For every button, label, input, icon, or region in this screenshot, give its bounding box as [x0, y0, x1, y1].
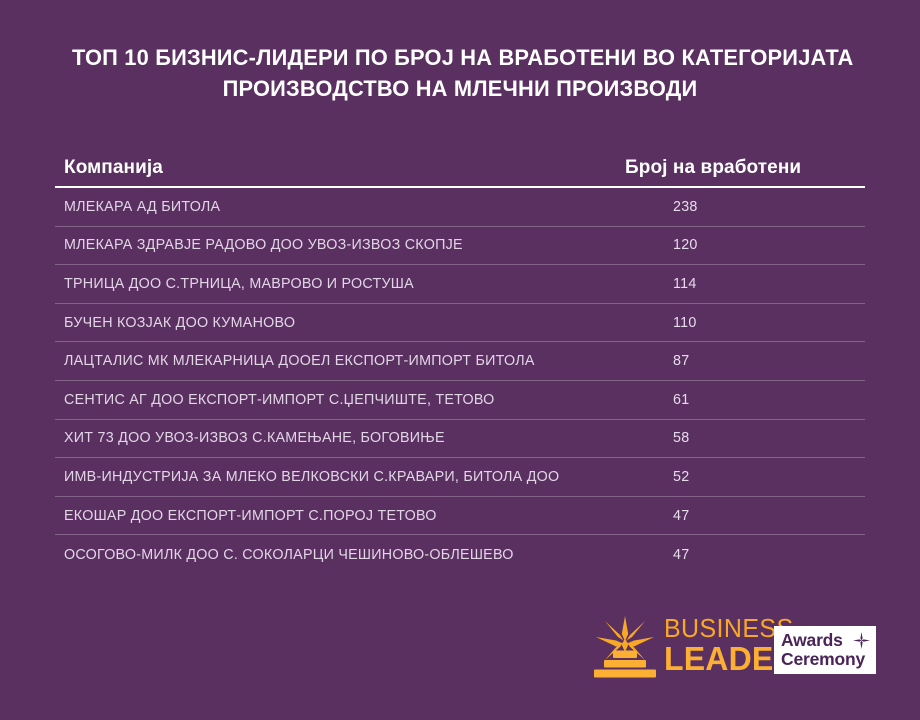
- logo-wordmark: BUSINESS LEADER: [664, 616, 768, 675]
- table-row: ТРНИЦА ДОО С.ТРНИЦА, МАВРОВО И РОСТУША 1…: [55, 265, 865, 304]
- table-row: МЛЕКАРА АД БИТОЛА 238: [55, 188, 865, 227]
- table-row: ХИТ 73 ДОО УВОЗ-ИЗВОЗ С.КАМЕЊАНЕ, БОГОВИ…: [55, 420, 865, 459]
- table-row: СЕНТИС АГ ДОО ЕКСПОРТ-ИМПОРТ С.ЏЕПЧИШТЕ,…: [55, 381, 865, 420]
- page-title-line-1: ТОП 10 БИЗНИС-ЛИДЕРИ ПО БРОЈ НА ВРАБОТЕН…: [72, 42, 848, 73]
- awards-ceremony-badge: Awards Ceremony: [774, 626, 876, 674]
- logo-word-leader: LEADER: [664, 642, 765, 675]
- cell-employee-count: 110: [673, 315, 697, 331]
- table-row: ОСОГОВО-МИЛК ДОО С. СОКОЛАРЦИ ЧЕШИНОВО-О…: [55, 535, 865, 574]
- awards-ceremony-line-1: Awards: [781, 631, 843, 650]
- cell-company: МЛЕКАРА АД БИТОЛА: [64, 199, 220, 215]
- business-leader-logo: BUSINESS LEADER Awards Ceremony: [588, 612, 876, 678]
- table-body: МЛЕКАРА АД БИТОЛА 238 МЛЕКАРА ЗДРАВЈЕ РА…: [55, 188, 865, 574]
- cell-company: СЕНТИС АГ ДОО ЕКСПОРТ-ИМПОРТ С.ЏЕПЧИШТЕ,…: [64, 392, 495, 408]
- sparkle-icon: [853, 632, 870, 649]
- cell-employee-count: 238: [673, 199, 698, 215]
- cell-company: ХИТ 73 ДОО УВОЗ-ИЗВОЗ С.КАМЕЊАНЕ, БОГОВИ…: [64, 430, 445, 446]
- cell-company: ТРНИЦА ДОО С.ТРНИЦА, МАВРОВО И РОСТУША: [64, 276, 414, 292]
- awards-ceremony-line-2: Ceremony: [781, 650, 865, 669]
- logo-word-business: BUSINESS: [664, 616, 766, 642]
- table-header-row: Компанија Број на вработени: [55, 143, 865, 186]
- cell-company: БУЧЕН КОЗЈАК ДОО КУМАНОВО: [64, 315, 295, 331]
- column-header-company: Компанија: [64, 157, 163, 179]
- table-row: БУЧЕН КОЗЈАК ДОО КУМАНОВО 110: [55, 304, 865, 343]
- table-row: МЛЕКАРА ЗДРАВЈЕ РАДОВО ДОО УВОЗ-ИЗВОЗ СК…: [55, 227, 865, 266]
- page-title: ТОП 10 БИЗНИС-ЛИДЕРИ ПО БРОЈ НА ВРАБОТЕН…: [60, 42, 860, 104]
- column-header-employee-count: Број на вработени: [625, 157, 801, 179]
- slide-canvas: ТОП 10 БИЗНИС-ЛИДЕРИ ПО БРОЈ НА ВРАБОТЕН…: [0, 0, 920, 720]
- cell-employee-count: 114: [673, 276, 697, 292]
- table-row: ИМВ-ИНДУСТРИЈА ЗА МЛЕКО ВЕЛКОВСКИ С.КРАВ…: [55, 458, 865, 497]
- cell-employee-count: 47: [673, 547, 689, 563]
- table-row: ЛАЦТАЛИС МК МЛЕКАРНИЦА ДООЕЛ ЕКСПОРТ-ИМП…: [55, 342, 865, 381]
- cell-employee-count: 61: [673, 392, 689, 408]
- cell-company: ЕКОШАР ДОО ЕКСПОРТ-ИМПОРТ С.ПОРОЈ ТЕТОВО: [64, 508, 437, 524]
- cell-employee-count: 52: [673, 469, 689, 485]
- cell-employee-count: 87: [673, 353, 689, 369]
- cell-employee-count: 120: [673, 237, 698, 253]
- cell-company: ЛАЦТАЛИС МК МЛЕКАРНИЦА ДООЕЛ ЕКСПОРТ-ИМП…: [64, 353, 535, 369]
- cell-company: ИМВ-ИНДУСТРИЈА ЗА МЛЕКО ВЕЛКОВСКИ С.КРАВ…: [64, 469, 559, 485]
- star-podium-icon: [588, 614, 662, 678]
- page-title-line-2: ПРОИЗВОДСТВО НА МЛЕЧНИ ПРОИЗВОДИ: [72, 73, 848, 104]
- cell-employee-count: 47: [673, 508, 689, 524]
- cell-company: МЛЕКАРА ЗДРАВЈЕ РАДОВО ДОО УВОЗ-ИЗВОЗ СК…: [64, 237, 463, 253]
- leaders-table: Компанија Број на вработени МЛЕКАРА АД Б…: [55, 143, 865, 574]
- cell-employee-count: 58: [673, 430, 689, 446]
- table-row: ЕКОШАР ДОО ЕКСПОРТ-ИМПОРТ С.ПОРОЈ ТЕТОВО…: [55, 497, 865, 536]
- cell-company: ОСОГОВО-МИЛК ДОО С. СОКОЛАРЦИ ЧЕШИНОВО-О…: [64, 547, 514, 563]
